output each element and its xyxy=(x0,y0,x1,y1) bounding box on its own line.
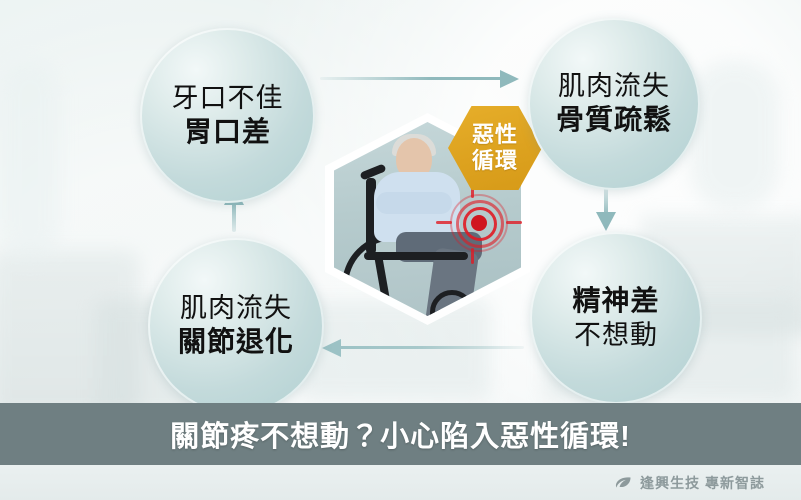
badge-line-2: 循環 xyxy=(472,148,518,174)
arrow-shaft xyxy=(320,77,505,80)
headline-banner: 關節疼不想動？小心陷入惡性循環! xyxy=(0,403,801,465)
background-blur-shape xyxy=(690,60,780,210)
person-arm xyxy=(376,192,452,214)
badge-line-1: 惡性 xyxy=(472,122,518,148)
arrow-shaft xyxy=(338,346,524,349)
node-line-1: 精神差 xyxy=(572,284,659,318)
knee-pain-marker-icon xyxy=(452,196,506,250)
pain-core xyxy=(471,215,487,231)
arrow-right-down-direction xyxy=(596,186,616,232)
node-low-spirits-inactivity[interactable]: 精神差 不想動 xyxy=(530,232,702,404)
infographic-stage: 惡性 循環 牙口不佳 胃口差 肌肉流失 骨質疏鬆 肌肉流失 關節退化 精神差 不… xyxy=(0,0,801,500)
node-line-1: 肌肉流失 xyxy=(180,292,292,325)
footer-bar: 逢興生技 專新智誌 xyxy=(0,465,801,500)
arrow-head-icon xyxy=(500,70,519,88)
leaf-swoosh-icon xyxy=(614,476,633,490)
node-line-2: 不想動 xyxy=(574,319,658,352)
node-muscle-loss-osteoporosis[interactable]: 肌肉流失 骨質疏鬆 xyxy=(528,18,700,190)
arrow-head-icon xyxy=(596,212,616,231)
node-line-1: 牙口不佳 xyxy=(172,82,284,115)
arrow-bottom-left-direction xyxy=(322,339,522,357)
headline-text: 關節疼不想動？小心陷入惡性循環! xyxy=(170,413,631,455)
node-muscle-loss-joint-degeneration[interactable]: 肌肉流失 關節退化 xyxy=(148,238,324,414)
pain-spike xyxy=(506,221,522,224)
node-line-2: 關節退化 xyxy=(178,325,294,359)
brand-name: 逢興生技 專新智誌 xyxy=(640,473,765,493)
node-line-1: 肌肉流失 xyxy=(558,70,670,103)
arrow-head-icon xyxy=(322,339,341,357)
node-poor-dentition-appetite[interactable]: 牙口不佳 胃口差 xyxy=(140,28,315,203)
background-blur-shape xyxy=(0,60,60,260)
arrow-top-right-direction xyxy=(320,70,520,88)
node-line-2: 骨質疏鬆 xyxy=(556,103,672,137)
node-line-2: 胃口差 xyxy=(184,115,271,149)
arrow-shaft xyxy=(232,202,236,232)
